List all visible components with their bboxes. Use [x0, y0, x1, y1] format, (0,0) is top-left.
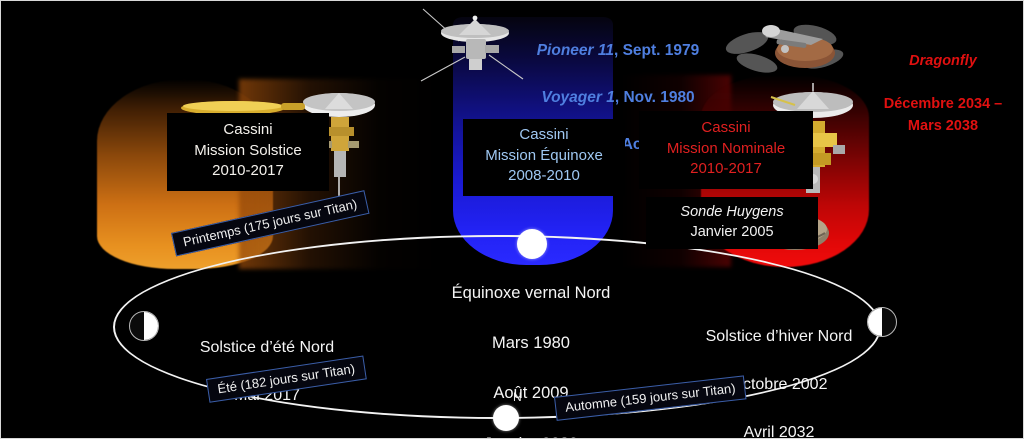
titan-marker-summer-solstice	[129, 311, 159, 341]
huygens-name: Sonde Huygens	[652, 202, 812, 222]
cassini-equinox-line3: 2008-2010	[469, 166, 619, 187]
dragonfly-dates: Décembre 2034 – Mars 2038	[865, 94, 1021, 138]
cassini-nominale-line1: Cassini	[645, 118, 807, 139]
summer-title: Solstice d’été Nord	[169, 336, 365, 360]
solstice-hiver-nord-text: Solstice d’hiver Nord Octobre 2002 Avril…	[682, 301, 876, 439]
cassini-nominale-line2: Mission Nominale	[645, 139, 807, 160]
flyby-line-pioneer11: Pioneer 11, Sept. 1979	[498, 39, 738, 63]
cassini-solstice-line2: Mission Solstice	[173, 141, 323, 162]
dragonfly-name: Dragonfly	[865, 51, 1021, 73]
equinox-date-3: Janvier 2039	[426, 432, 636, 439]
equinox-title: Équinoxe vernal Nord	[426, 281, 636, 306]
cassini-solstice-label: Cassini Mission Solstice 2010-2017	[167, 113, 329, 191]
cassini-solstice-line3: 2010-2017	[173, 161, 323, 182]
huygens-probe-label: Sonde Huygens Janvier 2005	[646, 197, 818, 249]
dragonfly-lander-icon	[719, 9, 855, 83]
winter-date-2: Avril 2032	[682, 421, 876, 439]
huygens-date: Janvier 2005	[652, 222, 812, 242]
cassini-solstice-line1: Cassini	[173, 120, 323, 141]
pioneer11-name: Pioneer 11	[537, 42, 614, 59]
pioneer11-date: , Sept. 1979	[614, 42, 699, 59]
titan-seasons-diagram: N Pioneer 11, Sept. 1979 Voyager 1, Nov.…	[0, 0, 1024, 439]
voyager1-date: , Nov. 1980	[615, 89, 695, 106]
titan-marker-equinox-top	[517, 229, 547, 259]
cassini-nominale-label: Cassini Mission Nominale 2010-2017	[639, 111, 813, 189]
cassini-equinox-line2: Mission Équinoxe	[469, 146, 619, 167]
dragonfly-mission-text: Dragonfly Décembre 2034 – Mars 2038	[865, 29, 1021, 160]
winter-title: Solstice d’hiver Nord	[682, 325, 876, 349]
cassini-nominale-line3: 2010-2017	[645, 159, 807, 180]
equinox-date-1: Mars 1980	[426, 331, 636, 356]
cassini-equinox-label: Cassini Mission Équinoxe 2008-2010	[463, 119, 625, 196]
voyager1-name: Voyager 1	[541, 89, 615, 106]
flyby-line-voyager1: Voyager 1, Nov. 1980	[498, 86, 738, 110]
cassini-equinox-line1: Cassini	[469, 125, 619, 146]
